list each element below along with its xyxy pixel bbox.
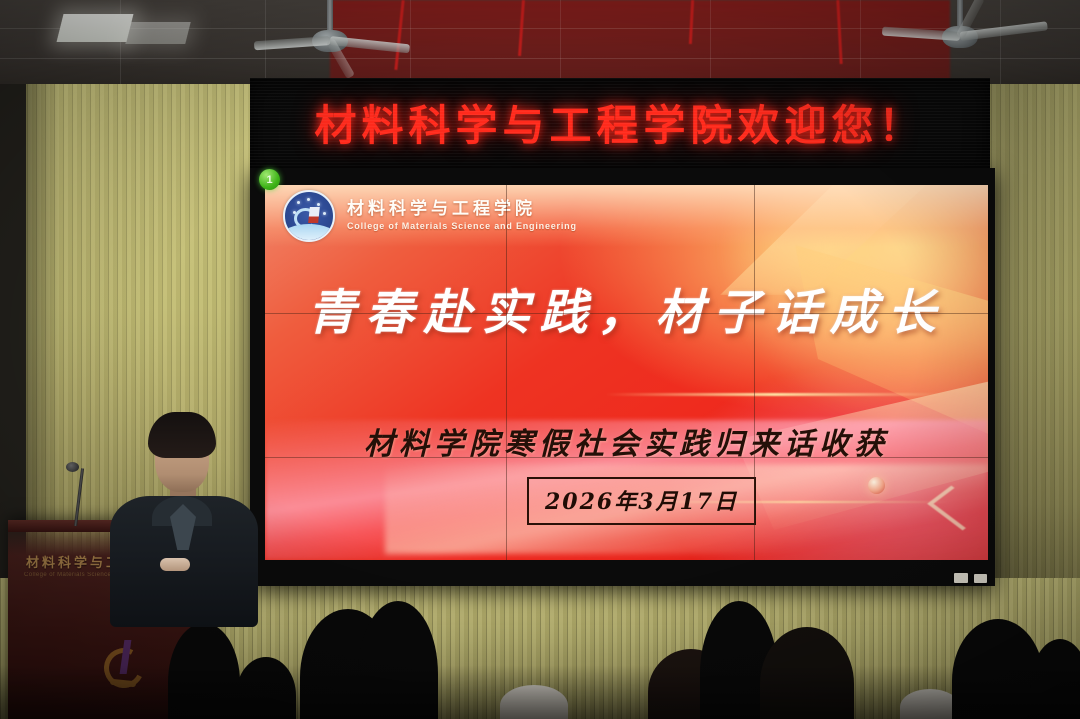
slide-light-streak: [605, 393, 945, 396]
slide-header-english: College of Materials Science and Enginee…: [347, 222, 577, 231]
slide-sphere-decoration: [868, 477, 885, 494]
video-wall-seam: [265, 313, 988, 314]
speaker-hair: [148, 412, 216, 458]
table-object: [954, 573, 968, 583]
video-wall-seam: [506, 185, 507, 560]
led-banner-text: 材料科学与工程学院欢迎您！: [250, 92, 990, 153]
slide-date-box: 2026年3月17日: [527, 477, 756, 525]
emblem-sail: [308, 207, 320, 223]
video-wall-seam: [265, 457, 988, 458]
ceiling-fan-left: [270, 0, 390, 68]
ceiling-light-panel: [57, 14, 134, 42]
slide-title: 青春赴实践，材子话成长: [265, 273, 988, 343]
college-emblem-icon: [283, 190, 335, 242]
microphone-head-icon: [66, 462, 79, 472]
slide-header: 材料科学与工程学院 College of Materials Science a…: [265, 185, 988, 247]
video-wall-frame: 材料科学与工程学院 College of Materials Science a…: [250, 168, 995, 586]
speaker-person: [108, 412, 258, 627]
wall-shadow-right: [982, 84, 1080, 644]
emblem-wave: [283, 224, 335, 240]
ceiling-light-panel: [125, 22, 190, 44]
ceiling-fan-right: [900, 0, 1020, 64]
video-wall-seam: [754, 185, 755, 560]
speaker-hand: [160, 558, 190, 571]
bottom-shadow: [0, 665, 1080, 719]
lecture-hall-photo: 材料科学与工程学院欢迎您！ 1: [0, 0, 1080, 719]
slide-header-chinese: 材料科学与工程学院: [347, 201, 577, 219]
fan-rod: [327, 0, 333, 34]
led-banner: 材料科学与工程学院欢迎您！: [250, 78, 990, 180]
video-wall-screen: 材料科学与工程学院 College of Materials Science a…: [265, 185, 988, 560]
table-object: [974, 574, 987, 583]
status-badge: 1: [259, 169, 280, 190]
